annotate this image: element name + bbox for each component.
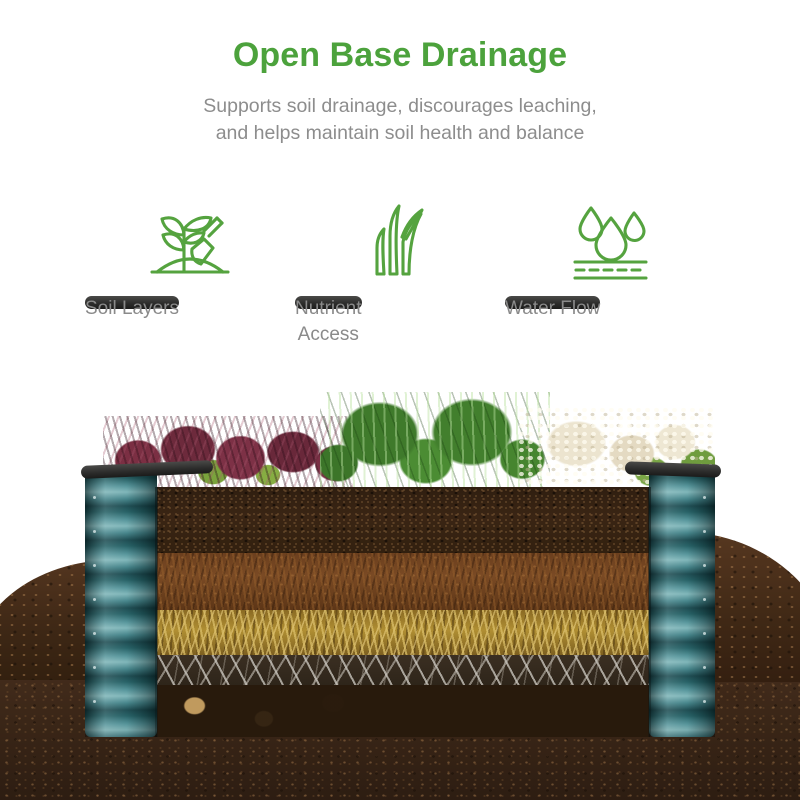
cutaway-edge-left <box>155 487 158 737</box>
planter-post-right <box>649 472 715 737</box>
feature-item-nutrient-access: Nutrient Access <box>295 196 505 282</box>
soil-layer-compost-mulch <box>155 553 650 610</box>
grass-blades-icon <box>295 196 505 282</box>
garden-bed <box>85 472 715 737</box>
feature-label-soil-layers: Soil Layers <box>85 296 179 309</box>
green-cabbage <box>320 392 550 488</box>
page-subtitle: Supports soil drainage, discourages leac… <box>0 93 800 147</box>
soil-cross-section <box>155 487 650 737</box>
soil-layer-straw <box>155 610 650 655</box>
planter-post-left <box>85 472 157 737</box>
water-droplets-drainage-icon <box>505 196 715 282</box>
subtitle-line-2: and helps maintain soil health and balan… <box>0 120 800 147</box>
feature-list: Soil Layers Nutrient Access <box>0 196 800 282</box>
soil-layer-cut-logs <box>155 685 650 737</box>
page-title: Open Base Drainage <box>0 36 800 75</box>
cutaway-edge-right <box>648 487 651 737</box>
seedling-shovel-icon <box>85 196 295 282</box>
infographic-canvas: Open Base Drainage Supports soil drainag… <box>0 0 800 800</box>
subtitle-line-1: Supports soil drainage, discourages leac… <box>0 93 800 120</box>
feature-item-water-flow: Water Flow <box>505 196 715 282</box>
soil-layer-topsoil <box>155 487 650 553</box>
soil-layer-twigs-branches <box>155 655 650 685</box>
feature-label-water-flow: Water Flow <box>505 296 600 309</box>
feature-item-soil-layers: Soil Layers <box>85 196 295 282</box>
feature-label-nutrient-access: Nutrient Access <box>295 296 362 309</box>
product-photo-raised-garden-bed <box>0 360 800 800</box>
